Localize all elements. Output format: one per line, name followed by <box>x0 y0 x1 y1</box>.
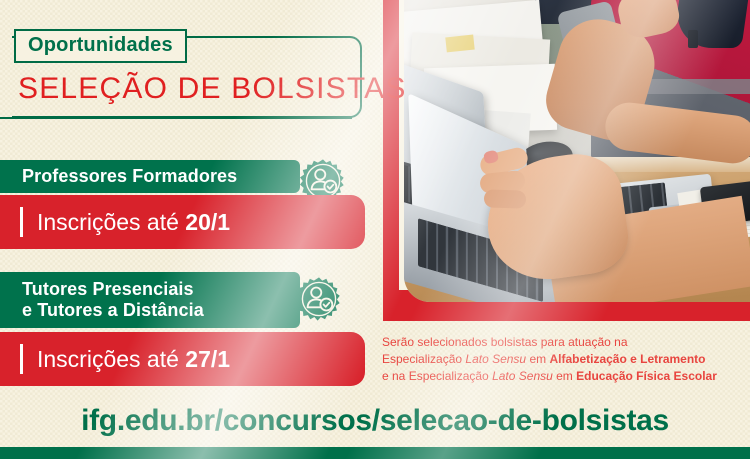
desc-2i: Lato Sensu <box>465 352 526 366</box>
deadline-prefix-2: Inscrições até <box>37 346 185 372</box>
kicker-badge: Oportunidades <box>14 29 187 63</box>
photo-finger <box>483 190 525 210</box>
deadline-tick-icon <box>20 344 23 374</box>
description-line-2: Especialização Lato Sensu em Alfabetizaç… <box>382 351 750 368</box>
photo-shirt-button <box>688 30 698 48</box>
offer-role-label-1: Professores Formadores <box>0 166 237 187</box>
desc-3a: e na Especialização <box>382 369 492 383</box>
offer-role-bar-1: Professores Formadores <box>0 160 300 193</box>
header-underline <box>0 117 352 119</box>
deadline-date-2: 27/1 <box>185 346 230 372</box>
footer-bar <box>0 447 750 459</box>
red-vertical-band <box>383 0 399 321</box>
desc-2b: em <box>526 352 549 366</box>
deadline-tick-icon <box>20 207 23 237</box>
photo-sticky-note <box>445 35 474 53</box>
offer-deadline-label-1: Inscrições até 20/1 <box>37 209 230 236</box>
offer-deadline-bar-2: Inscrições até 27/1 <box>0 332 365 386</box>
offer-deadline-label-2: Inscrições até 27/1 <box>37 346 230 373</box>
offer-role-bar-2: Tutores Presenciais e Tutores a Distânci… <box>0 272 300 328</box>
desc-2a: Especialização <box>382 352 465 366</box>
kicker-label: Oportunidades <box>28 35 173 55</box>
desc-3bold: Educação Física Escolar <box>576 369 717 383</box>
desc-2bold: Alfabetização e Letramento <box>549 352 705 366</box>
description-line-1: Serão selecionados bolsistas para atuaçã… <box>382 334 750 351</box>
desc-3i: Lato Sensu <box>492 369 553 383</box>
offer-deadline-bar-1: Inscrições até 20/1 <box>0 195 365 249</box>
poster-root: Oportunidades SELEÇÃO DE BOLSISTAS Profe… <box>0 0 750 459</box>
offer-role-label-2: Tutores Presenciais e Tutores a Distânci… <box>0 279 204 321</box>
deadline-prefix-1: Inscrições até <box>37 209 185 235</box>
description-text: Serão selecionados bolsistas para atuaçã… <box>382 334 750 385</box>
desc-3b: em <box>553 369 576 383</box>
deadline-date-1: 20/1 <box>185 209 230 235</box>
page-title: SELEÇÃO DE BOLSISTAS <box>18 72 407 106</box>
website-url[interactable]: ifg.edu.br/concursos/selecao-de-bolsista… <box>0 404 750 438</box>
user-check-badge-icon <box>296 276 342 322</box>
office-photo <box>404 0 750 302</box>
description-line-3: e na Especialização Lato Sensu em Educaç… <box>382 368 750 385</box>
